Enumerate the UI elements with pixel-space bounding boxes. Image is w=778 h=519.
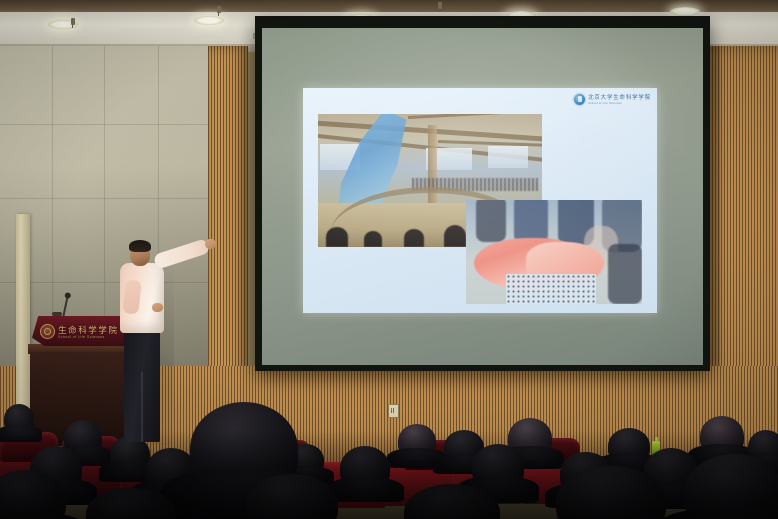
speaker-lower-hand bbox=[152, 303, 163, 312]
speaker-hair bbox=[129, 240, 151, 252]
speaker-leg-split bbox=[141, 372, 143, 442]
slide-photo-specimen bbox=[466, 200, 642, 304]
sprinkler-1 bbox=[71, 18, 75, 25]
audience-head-m4 bbox=[472, 444, 524, 490]
audience-head-f9 bbox=[608, 428, 650, 464]
university-logo-text: 北京大学生命科学学院 bbox=[588, 93, 651, 101]
lecture-hall-scene: 北京大学生命科学学院 School of Life Sciences 生命科学学… bbox=[0, 0, 778, 519]
sprinkler-2 bbox=[217, 6, 221, 13]
sprinkler-3 bbox=[438, 2, 442, 9]
university-logo: 北京大学生命科学学院 School of Life Sciences bbox=[574, 93, 651, 105]
audience-head-m3 bbox=[340, 446, 390, 490]
audience-head-f10 bbox=[700, 416, 744, 456]
speaker-raised-hand bbox=[205, 239, 216, 249]
ceiling-light-5 bbox=[670, 7, 700, 16]
audience-head-f1 bbox=[4, 404, 34, 434]
podium-banner-english: School of Life Sciences bbox=[58, 335, 105, 339]
podium-microphone-base bbox=[52, 312, 62, 316]
school-seal-icon bbox=[40, 324, 55, 339]
university-logo-subtext: School of Life Sciences bbox=[588, 102, 651, 105]
audience-head-f6 bbox=[398, 424, 436, 458]
ceiling-light-2 bbox=[194, 16, 224, 25]
university-logo-mark bbox=[574, 94, 585, 105]
wall-outlet[interactable] bbox=[388, 404, 399, 418]
hall-pilaster bbox=[16, 214, 30, 424]
presentation-slide: 北京大学生命科学学院 School of Life Sciences bbox=[303, 88, 657, 313]
